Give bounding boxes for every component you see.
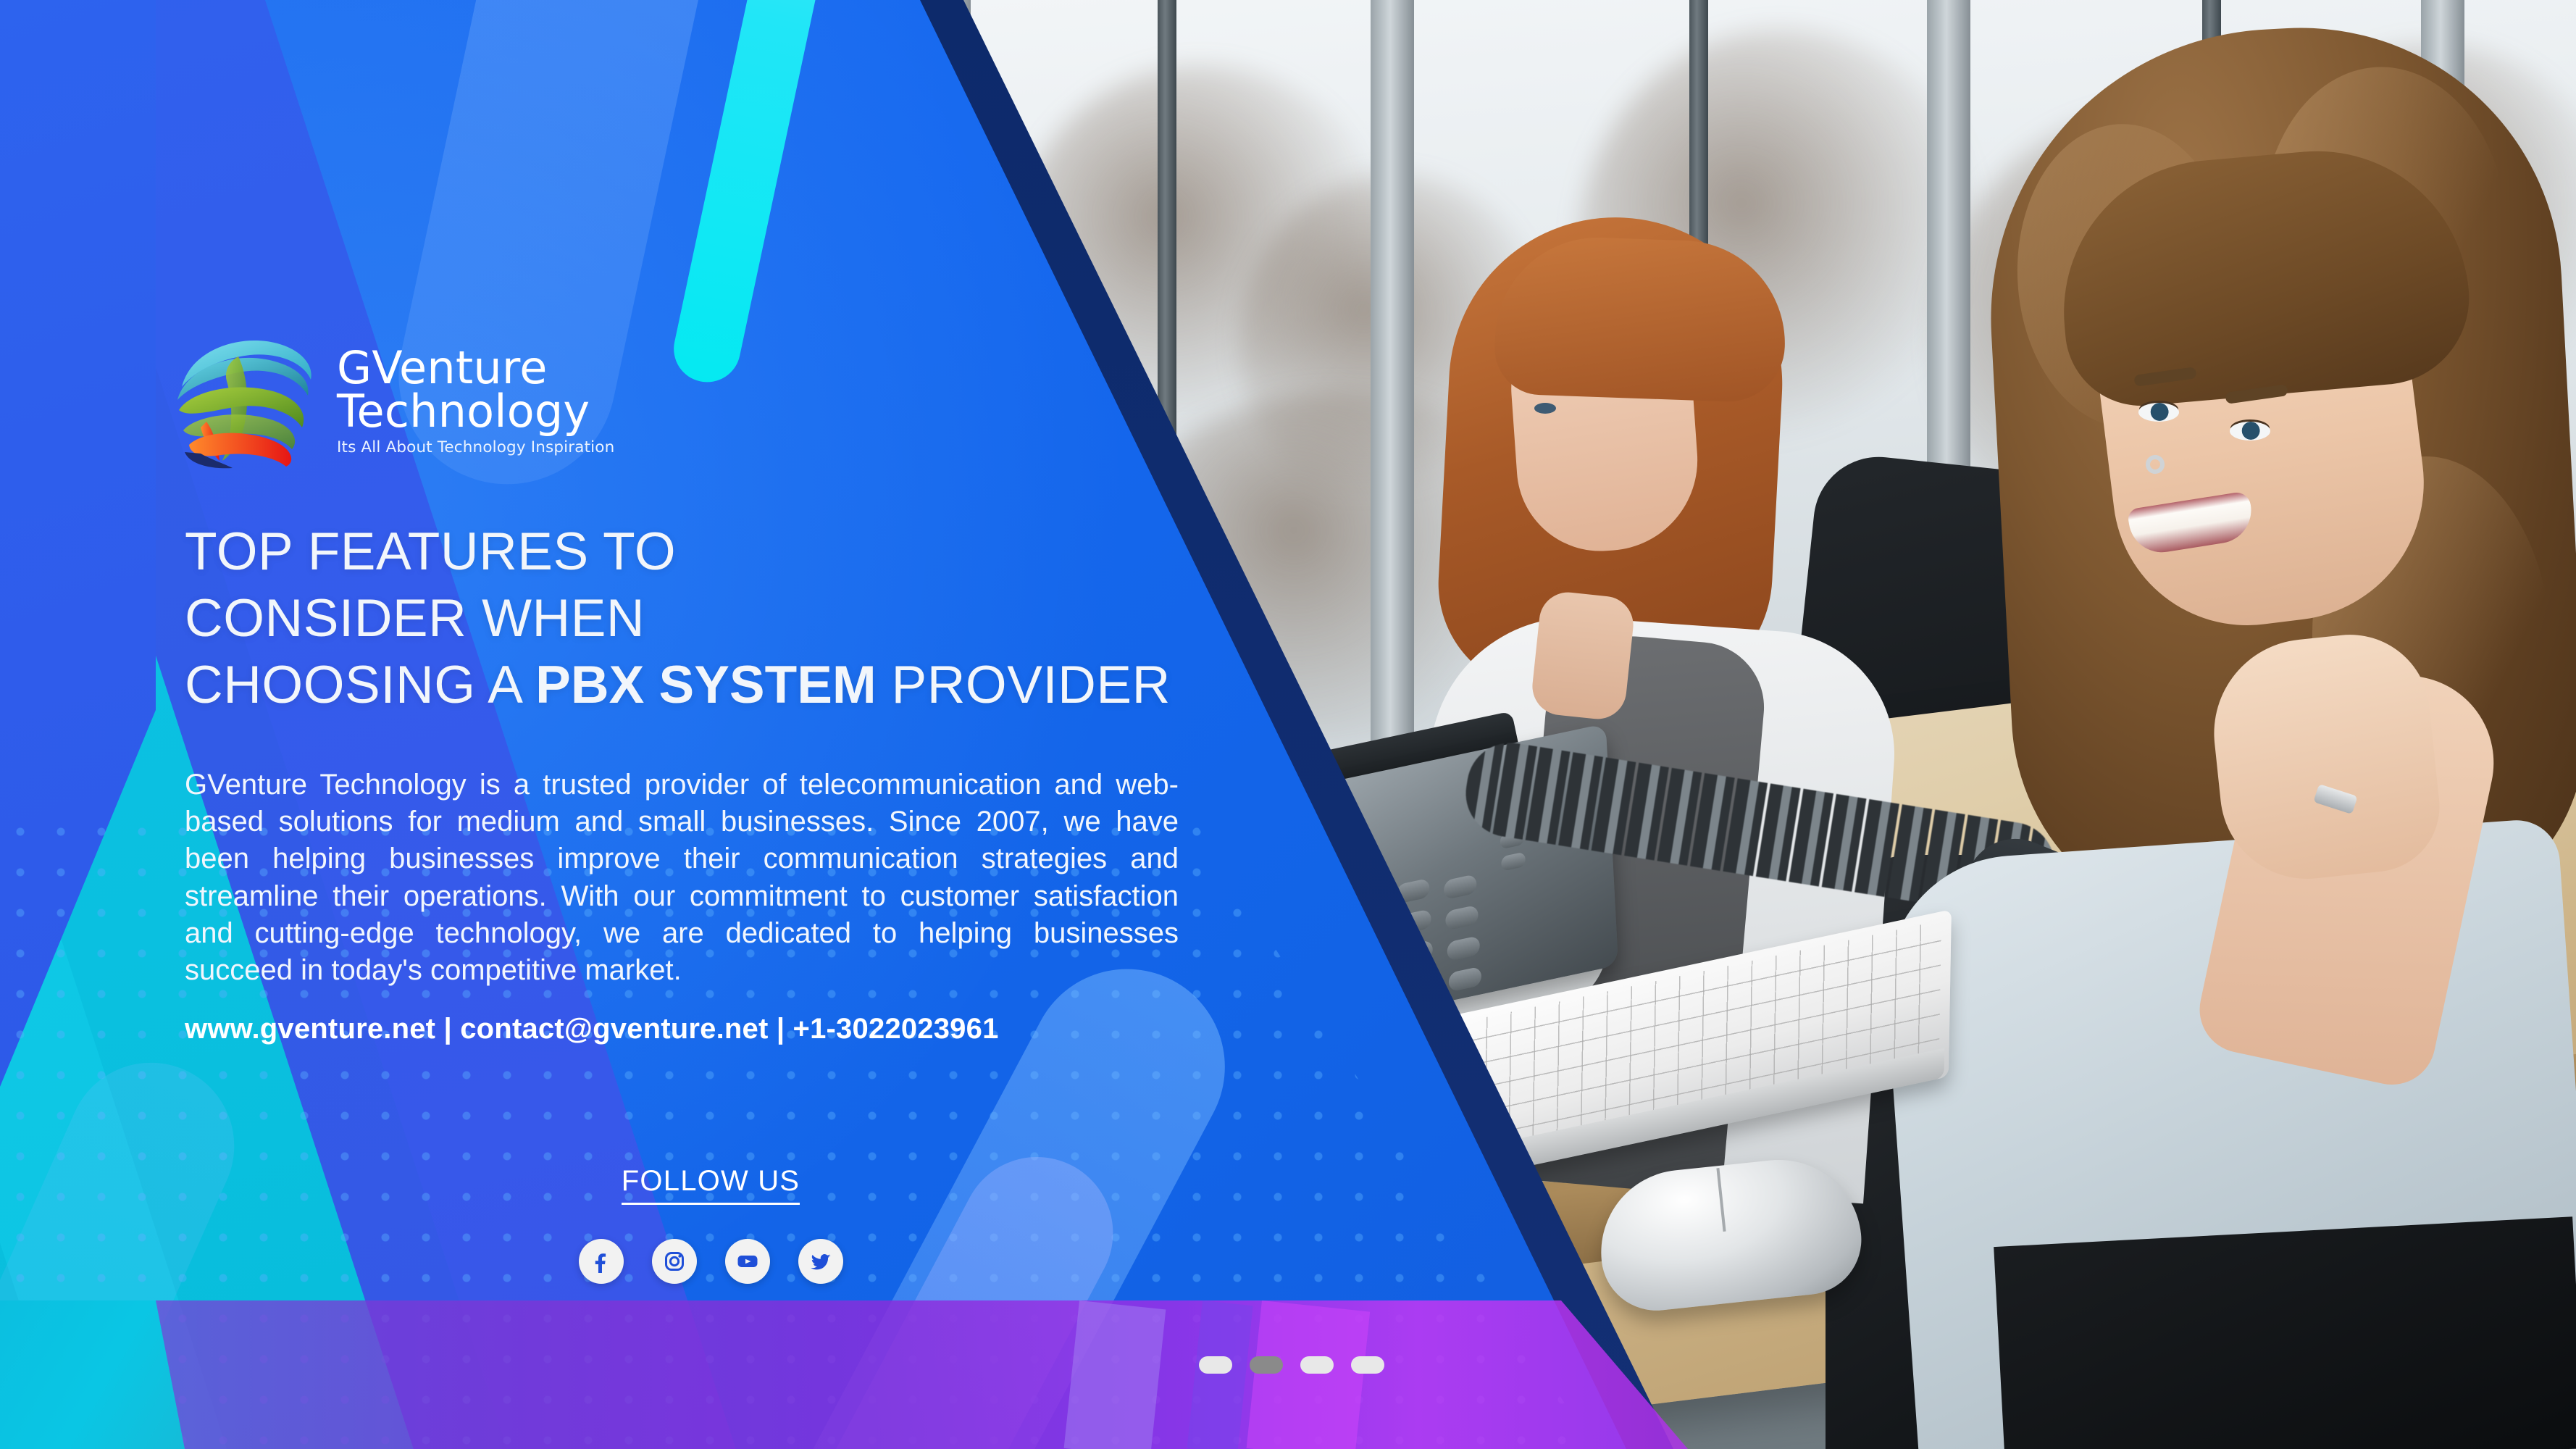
follow-us-section: FOLLOW US bbox=[559, 1165, 863, 1205]
social-link-facebook[interactable] bbox=[579, 1239, 624, 1284]
headline-line-1: TOP FEATURES TO bbox=[185, 519, 1213, 585]
headline-emphasis: PBX SYSTEM bbox=[535, 656, 877, 714]
person-front-eye bbox=[2230, 422, 2270, 440]
instagram-icon bbox=[661, 1248, 687, 1274]
brand-tagline: Its All About Technology Inspiration bbox=[337, 438, 614, 456]
headline-line-2: CONSIDER WHEN bbox=[185, 585, 1213, 652]
headline-suffix: PROVIDER bbox=[877, 656, 1171, 714]
panel-content: GVenture Technology Its All About Techno… bbox=[185, 0, 1213, 1449]
facebook-icon bbox=[588, 1248, 614, 1274]
twitter-icon bbox=[808, 1248, 834, 1274]
carousel-dot-2[interactable] bbox=[1250, 1356, 1283, 1374]
headline-line-3: CHOOSING A PBX SYSTEM PROVIDER bbox=[185, 652, 1213, 719]
carousel-dot-3[interactable] bbox=[1300, 1356, 1334, 1374]
youtube-icon bbox=[735, 1248, 761, 1274]
brand-name-line2: Technology bbox=[337, 390, 614, 433]
contact-line: www.gventure.net | contact@gventure.net … bbox=[185, 1013, 999, 1045]
marketing-banner: GVenture Technology Its All About Techno… bbox=[0, 0, 2576, 1449]
purple-accent-stripe bbox=[1247, 1300, 1371, 1449]
bottom-cyan-corner bbox=[0, 1300, 185, 1449]
page-title: TOP FEATURES TO CONSIDER WHEN CHOOSING A… bbox=[185, 519, 1213, 719]
follow-us-label: FOLLOW US bbox=[622, 1165, 800, 1205]
person-back-eye bbox=[1534, 403, 1556, 414]
body-paragraph: GVenture Technology is a trusted provide… bbox=[185, 767, 1179, 989]
social-link-instagram[interactable] bbox=[652, 1239, 697, 1284]
social-link-youtube[interactable] bbox=[725, 1239, 770, 1284]
globe-ribbon-logo-icon bbox=[169, 325, 318, 474]
carousel-indicators[interactable] bbox=[1199, 1356, 1384, 1374]
person-back-neck bbox=[1529, 590, 1636, 722]
carousel-dot-4[interactable] bbox=[1351, 1356, 1384, 1374]
brand-name-line1: GVenture bbox=[337, 346, 614, 390]
carousel-dot-1[interactable] bbox=[1199, 1356, 1232, 1374]
social-links bbox=[559, 1239, 863, 1284]
social-link-twitter[interactable] bbox=[798, 1239, 843, 1284]
person-front-skirt bbox=[1994, 1216, 2576, 1449]
person-front-eye bbox=[2138, 403, 2179, 422]
headline-prefix: CHOOSING A bbox=[185, 656, 535, 714]
brand-logo: GVenture Technology Its All About Techno… bbox=[169, 325, 614, 474]
